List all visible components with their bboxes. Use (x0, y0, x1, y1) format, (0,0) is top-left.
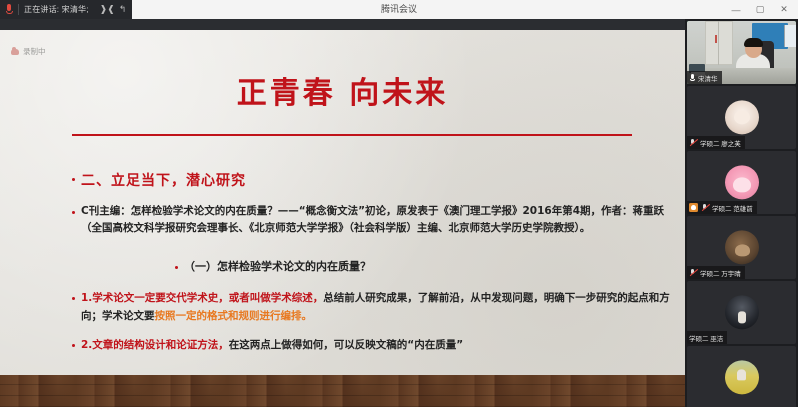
item1-text: 1.学术论文一定要交代学术史，或者叫做学术综述，总结前人研究成果，了解前沿，从中… (81, 289, 681, 325)
avatar (725, 100, 759, 134)
share-screen-icon[interactable]: ❱❰ (100, 5, 115, 14)
bullet-dot-icon (175, 266, 178, 269)
close-button[interactable]: ✕ (772, 0, 796, 19)
title-bar: 正在讲话: 宋清华; ❱❰ ↰ 腾讯会议 — ▢ ✕ (0, 0, 798, 19)
toolbar-strip (0, 19, 685, 30)
participant-tile[interactable]: 学硕二 廖之芙 (687, 86, 796, 149)
subheading-text: （一）怎样检验学术论文的内在质量？ (184, 258, 371, 274)
participant-tile[interactable]: 学硕二 范雄前 (687, 151, 796, 214)
avatar (725, 360, 759, 394)
host-badge-icon (689, 203, 698, 212)
subheading-row: （一）怎样检验学术论文的内在质量？ (175, 258, 371, 274)
participant-tile[interactable] (687, 346, 796, 407)
active-speaker-label: 正在讲话: 宋清华; (24, 4, 89, 15)
mic-off-icon (689, 269, 697, 277)
paragraph-row: C刊主编：怎样检验学术论文的内在质量？——“概念衡文法”初论，原发表于《澳门理工… (72, 203, 681, 237)
active-speaker-chip[interactable]: 正在讲话: 宋清华; ❱❰ ↰ (0, 0, 132, 19)
participant-name: 学硕二 范雄前 (712, 203, 753, 213)
paragraph-text: C刊主编：怎样检验学术论文的内在质量？——“概念衡文法”初论，原发表于《澳门理工… (81, 203, 681, 237)
minimize-button[interactable]: — (724, 0, 748, 19)
participant-name-badge: 学硕二 巫洁 (687, 331, 727, 344)
divider (18, 4, 19, 15)
avatar (725, 165, 759, 199)
avatar (725, 295, 759, 329)
bullet-dot-icon (72, 211, 75, 214)
participant-tile[interactable]: 学硕二 万宇晴 (687, 216, 796, 279)
wooden-floor-background (0, 375, 685, 407)
mic-off-icon (701, 204, 709, 212)
bullet-dot-icon (72, 344, 75, 347)
participant-name: 学硕二 巫洁 (689, 333, 723, 343)
item1-red: 1.学术论文一定要交代学术史，或者叫做学术综述， (81, 292, 323, 304)
mic-off-icon (689, 139, 697, 147)
mic-on-icon (689, 74, 695, 82)
tencent-meeting-window: 正在讲话: 宋清华; ❱❰ ↰ 腾讯会议 — ▢ ✕ 录制中 正青春 向未来 二… (0, 0, 798, 407)
mic-icon (5, 4, 13, 15)
participant-panel: 宋清华 学硕二 廖之芙 学硕二 范雄前 学硕二 万宇晴 (685, 19, 798, 407)
participant-name-badge: 学硕二 廖之芙 (687, 136, 745, 149)
item2-black: 在这两点上做得如何，可以反映文稿的“内在质量” (229, 339, 463, 351)
avatar (725, 230, 759, 264)
item1-row: 1.学术论文一定要交代学术史，或者叫做学术综述，总结前人研究成果，了解前沿，从中… (72, 289, 681, 325)
participant-name-badge: 学硕二 范雄前 (687, 201, 757, 214)
participant-name-badge: 宋清华 (687, 71, 722, 84)
item1-orange: 按照一定的格式和规则进行编排。 (155, 310, 313, 322)
item2-red: 2.文章的结构设计和论证方法， (81, 339, 229, 351)
maximize-button[interactable]: ▢ (748, 0, 772, 19)
bullet-dot-icon (72, 178, 75, 181)
participant-tile[interactable]: 学硕二 巫洁 (687, 281, 796, 344)
window-controls: — ▢ ✕ (724, 0, 796, 19)
participant-name: 宋清华 (698, 73, 718, 83)
shared-slide-view: 录制中 正青春 向未来 二、立足当下，潜心研究 C刊主编：怎样检验学术论文的内在… (0, 30, 685, 375)
item2-text: 2.文章的结构设计和论证方法，在这两点上做得如何，可以反映文稿的“内在质量” (81, 336, 681, 354)
participant-name-badge: 学硕二 万宇晴 (687, 266, 745, 279)
back-arrow-icon[interactable]: ↰ (119, 5, 127, 14)
participant-tile[interactable]: 宋清华 (687, 21, 796, 84)
item2-row: 2.文章的结构设计和论证方法，在这两点上做得如何，可以反映文稿的“内在质量” (72, 336, 681, 354)
participant-name: 学硕二 万宇晴 (700, 268, 741, 278)
section-heading: 二、立足当下，潜心研究 (81, 170, 246, 190)
participant-name: 学硕二 廖之芙 (700, 138, 741, 148)
bullet-dot-icon (72, 297, 75, 300)
section-heading-row: 二、立足当下，潜心研究 (72, 170, 246, 190)
slide-body: 二、立足当下，潜心研究 C刊主编：怎样检验学术论文的内在质量？——“概念衡文法”… (0, 30, 685, 375)
